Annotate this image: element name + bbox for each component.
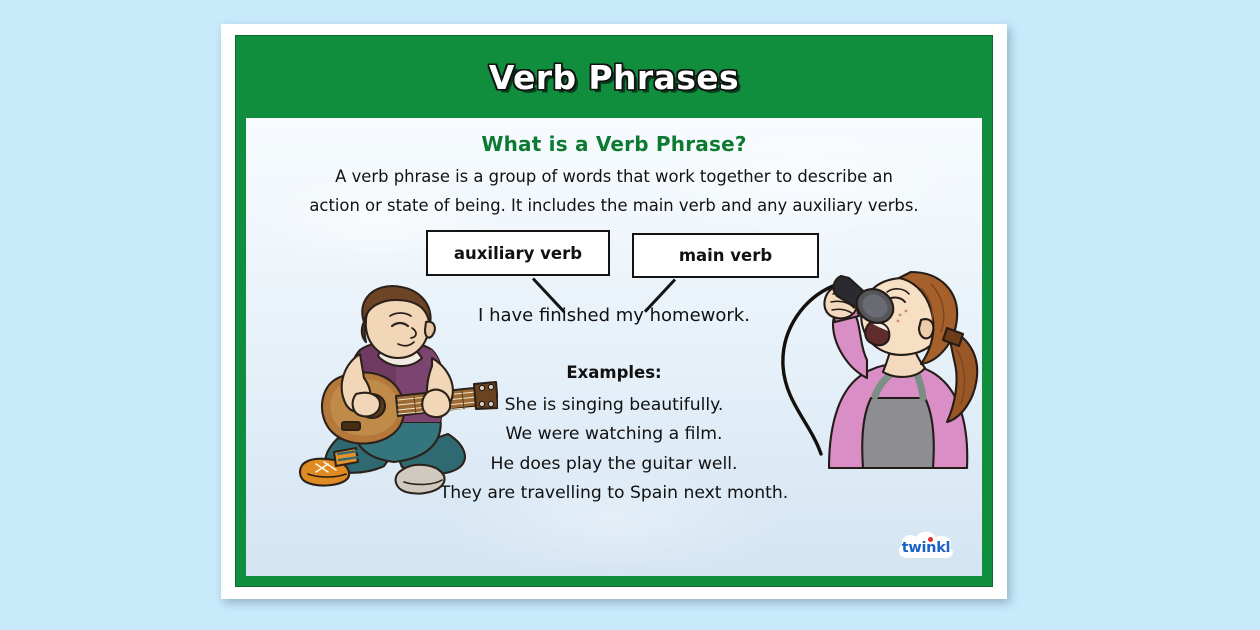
twinkl-dot-icon — [928, 537, 933, 542]
screenshot-stage: Verb Phrases What is a Verb Phrase? A ve… — [0, 0, 1260, 630]
poster-paper: Verb Phrases What is a Verb Phrase? A ve… — [221, 24, 1007, 599]
page-title: Verb Phrases — [489, 58, 739, 97]
section-heading: What is a Verb Phrase? — [246, 132, 982, 156]
boy-playing-guitar-illustration — [298, 266, 498, 496]
twinkl-logo[interactable]: twinkl — [894, 528, 958, 568]
poster-header: Verb Phrases — [236, 36, 992, 118]
poster-content-panel: What is a Verb Phrase? A verb phrase is … — [246, 118, 982, 576]
twinkl-wordmark: twinkl — [894, 528, 958, 568]
intro-paragraph: A verb phrase is a group of words that w… — [308, 162, 920, 220]
poster-green-frame: Verb Phrases What is a Verb Phrase? A ve… — [235, 35, 993, 587]
girl-singing-illustration — [771, 258, 982, 488]
